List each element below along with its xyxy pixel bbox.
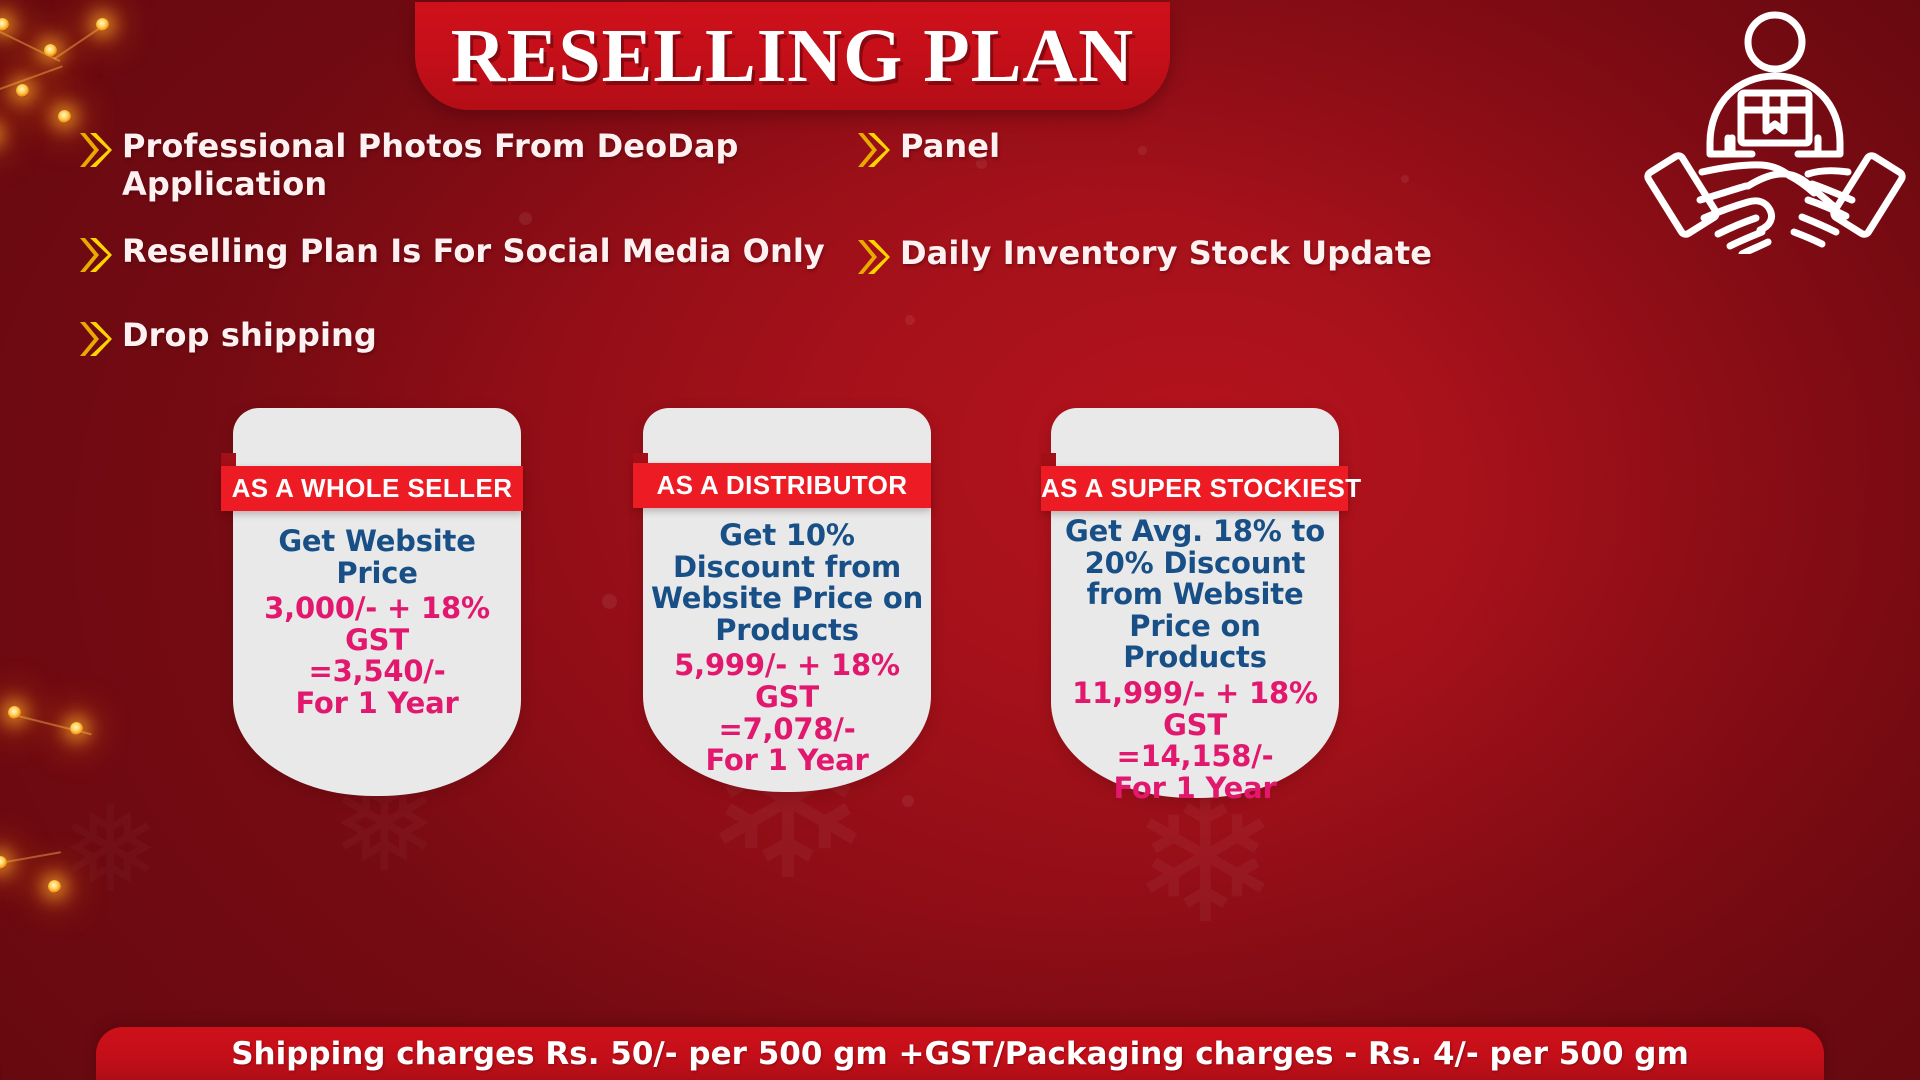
plan-ribbon: AS A DISTRIBUTOR xyxy=(633,463,931,508)
double-chevron-right-icon xyxy=(78,319,112,359)
double-chevron-right-icon xyxy=(78,130,112,170)
feature-label: Reselling Plan Is For Social Media Only xyxy=(122,233,825,271)
bokeh-dot xyxy=(519,212,532,225)
plan-price: 11,999/- + 18% GST =14,158/- For 1 Year xyxy=(1057,678,1333,804)
ribbon-fold xyxy=(1041,453,1056,467)
string-light-bulb xyxy=(16,84,29,97)
card-content: Get Website Price 3,000/- + 18% GST =3,5… xyxy=(233,526,521,720)
page-title-banner: RESELLING PLAN xyxy=(415,2,1170,110)
feature-label: Panel xyxy=(900,128,1000,166)
plan-ribbon: AS A WHOLE SELLER xyxy=(221,466,523,511)
plan-title: Get Website Price xyxy=(239,526,515,589)
handshake-partnership-icon xyxy=(1640,4,1910,254)
shipping-charges-text: Shipping charges Rs. 50/- per 500 gm +GS… xyxy=(231,1036,1689,1072)
feature-item: Panel xyxy=(856,128,1496,170)
feature-label: Drop shipping xyxy=(122,317,377,355)
double-chevron-right-icon xyxy=(856,130,890,170)
plan-price: 3,000/- + 18% GST =3,540/- For 1 Year xyxy=(239,593,515,719)
feature-label: Professional Photos From DeoDap Applicat… xyxy=(122,128,838,204)
feature-item: Professional Photos From DeoDap Applicat… xyxy=(78,128,838,204)
bokeh-dot xyxy=(1401,175,1409,183)
string-light-bulb xyxy=(48,880,61,893)
snowflake-watermark: ❅ xyxy=(60,790,161,910)
string-light-bulb xyxy=(44,44,57,57)
plan-ribbon: AS A SUPER STOCKIEST xyxy=(1041,466,1348,511)
card-content: Get 10% Discount from Website Price on P… xyxy=(643,520,931,777)
ribbon-fold xyxy=(221,453,236,467)
feature-item: Drop shipping xyxy=(78,317,838,359)
shipping-charges-banner: Shipping charges Rs. 50/- per 500 gm +GS… xyxy=(96,1027,1824,1080)
plan-title: Get Avg. 18% to 20% Discount from Websit… xyxy=(1057,516,1333,674)
feature-label: Daily Inventory Stock Update xyxy=(900,235,1432,273)
plan-ribbon-label: AS A SUPER STOCKIEST xyxy=(1041,473,1348,504)
pricing-plan-list: AS A WHOLE SELLER Get Website Price 3,00… xyxy=(0,408,1920,808)
page-title: RESELLING PLAN xyxy=(451,13,1134,100)
card-content: Get Avg. 18% to 20% Discount from Websit… xyxy=(1051,516,1339,804)
double-chevron-right-icon xyxy=(856,237,890,277)
plan-title: Get 10% Discount from Website Price on P… xyxy=(649,520,925,646)
string-light-bulb xyxy=(96,18,109,31)
feature-item: Reselling Plan Is For Social Media Only xyxy=(78,233,838,275)
double-chevron-right-icon xyxy=(78,235,112,275)
plan-ribbon-label: AS A WHOLE SELLER xyxy=(221,473,523,504)
plan-price: 5,999/- + 18% GST =7,078/- For 1 Year xyxy=(649,650,925,776)
plan-ribbon-label: AS A DISTRIBUTOR xyxy=(633,470,931,501)
bokeh-dot xyxy=(905,315,915,325)
feature-item: Daily Inventory Stock Update xyxy=(856,235,1496,277)
string-light-bulb xyxy=(58,110,71,123)
